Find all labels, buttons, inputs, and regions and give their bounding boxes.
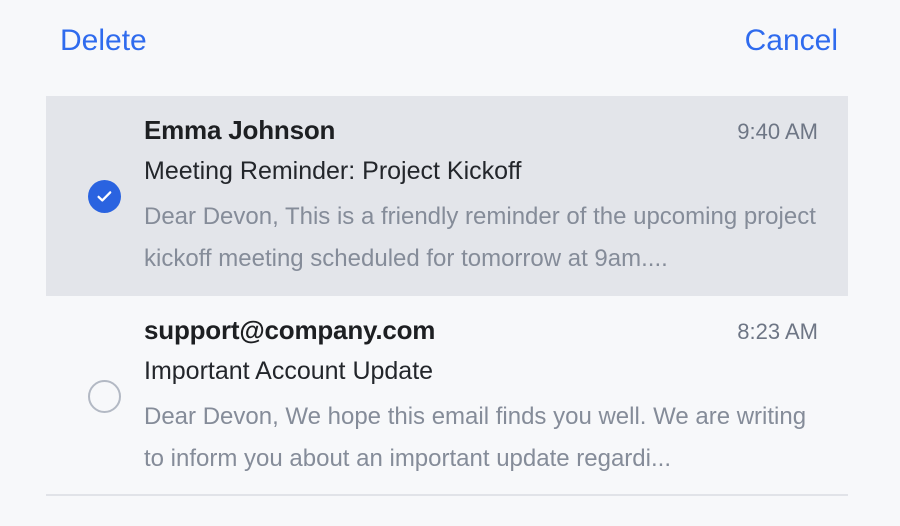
email-list-item-1[interactable]: Emma Johnson 9:40 AM Meeting Reminder: P… [46,96,848,296]
email-selection-screen: Delete Cancel Emma Johnson 9:40 AM Meeti… [0,0,900,526]
delete-button[interactable]: Delete [60,23,147,59]
message-header-1: Emma Johnson 9:40 AM [144,113,818,147]
selection-toolbar: Delete Cancel [0,0,900,82]
sender-name: support@company.com [144,313,435,347]
email-list: Emma Johnson 9:40 AM Meeting Reminder: P… [46,96,848,496]
subject-line: Meeting Reminder: Project Kickoff [144,156,818,187]
timestamp: 8:23 AM [737,317,818,347]
select-cell-2 [46,380,144,413]
email-list-item-2[interactable]: support@company.com 8:23 AM Important Ac… [46,296,848,496]
cancel-button[interactable]: Cancel [745,23,838,59]
check-circle-filled-icon[interactable] [88,180,121,213]
circle-outline-icon[interactable] [88,380,121,413]
sender-name: Emma Johnson [144,113,335,147]
message-content-2: support@company.com 8:23 AM Important Ac… [144,313,848,480]
message-header-2: support@company.com 8:23 AM [144,313,818,347]
select-cell-1 [46,180,144,213]
subject-line: Important Account Update [144,356,818,387]
preview-text: Dear Devon, We hope this email finds you… [144,396,818,480]
timestamp: 9:40 AM [737,117,818,147]
message-content-1: Emma Johnson 9:40 AM Meeting Reminder: P… [144,113,848,280]
preview-text: Dear Devon, This is a friendly reminder … [144,196,818,280]
